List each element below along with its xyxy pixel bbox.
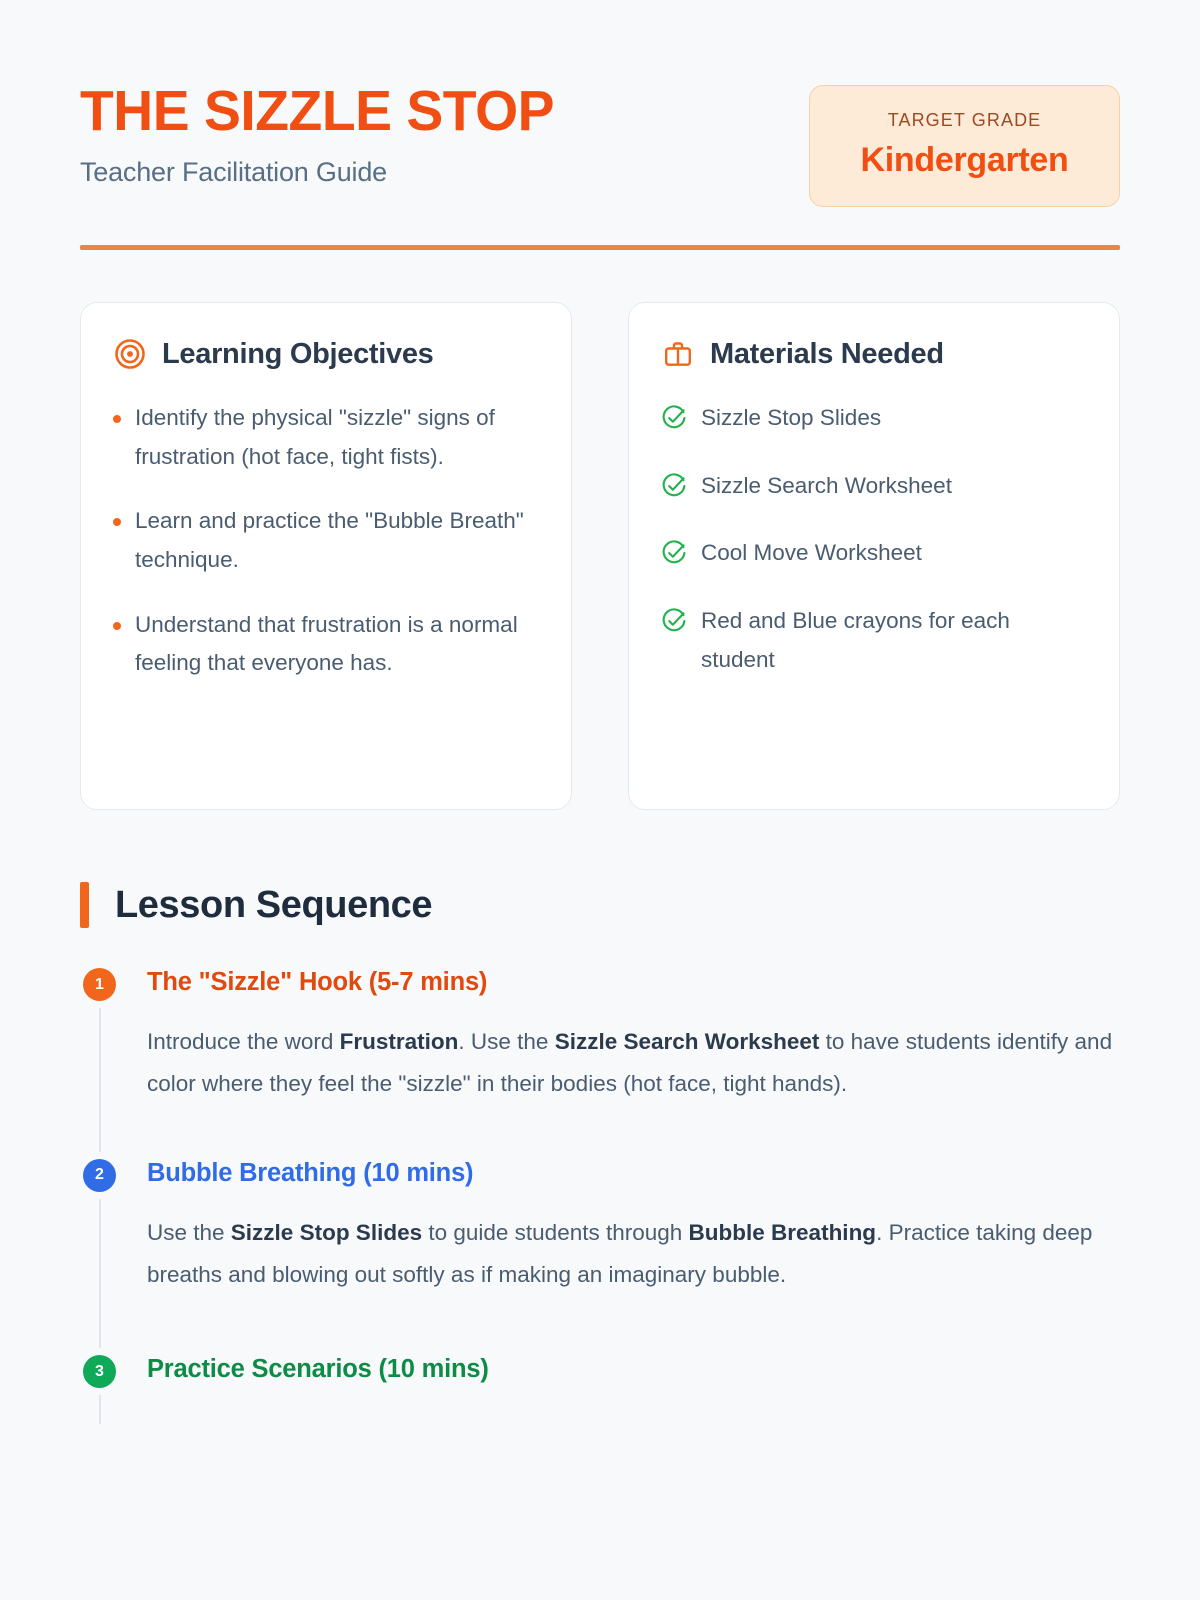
- materials-needed-title: Materials Needed: [710, 338, 944, 371]
- section-accent-bar: [80, 882, 89, 928]
- list-item: Learn and practice the "Bubble Breath" t…: [113, 502, 539, 579]
- materials-needed-list: Sizzle Stop Slides Sizzle Search Workshe…: [661, 399, 1087, 679]
- step-connector-line: [99, 1008, 101, 1152]
- objective-text: Understand that frustration is a normal …: [135, 606, 539, 683]
- material-text: Red and Blue crayons for each student: [701, 602, 1087, 679]
- check-circle-icon: [661, 608, 687, 679]
- page-header: THE SIZZLE STOP Teacher Facilitation Gui…: [80, 78, 1120, 207]
- bullet-icon: [113, 415, 121, 423]
- list-item: Sizzle Search Worksheet: [661, 467, 1087, 512]
- page-title: THE SIZZLE STOP: [80, 82, 554, 142]
- bullet-icon: [113, 622, 121, 630]
- lesson-step-1: 1 The "Sizzle" Hook (5-7 mins) Introduce…: [80, 968, 1120, 1158]
- target-grade-badge: TARGET GRADE Kindergarten: [809, 85, 1120, 207]
- objective-text: Learn and practice the "Bubble Breath" t…: [135, 502, 539, 579]
- materials-needed-card: Materials Needed Sizzle Stop Slides: [628, 302, 1120, 810]
- step-title: Bubble Breathing (10 mins): [147, 1159, 1120, 1188]
- lesson-sequence-title: Lesson Sequence: [115, 884, 432, 927]
- step-body: Introduce the word Frustration. Use the …: [147, 1021, 1120, 1106]
- list-item: Sizzle Stop Slides: [661, 399, 1087, 444]
- material-text: Sizzle Search Worksheet: [701, 467, 1087, 512]
- briefcase-icon: [661, 337, 695, 371]
- info-cards: Learning Objectives Identify the physica…: [80, 302, 1120, 810]
- step-title: Practice Scenarios (10 mins): [147, 1355, 1120, 1384]
- header-divider: [80, 245, 1120, 250]
- target-grade-value: Kindergarten: [830, 141, 1099, 180]
- bullet-icon: [113, 518, 121, 526]
- step-title: The "Sizzle" Hook (5-7 mins): [147, 968, 1120, 997]
- step-number-badge: 1: [83, 968, 116, 1001]
- list-item: Red and Blue crayons for each student: [661, 602, 1087, 679]
- materials-needed-header: Materials Needed: [661, 337, 1087, 371]
- step-connector-line: [99, 1199, 101, 1349]
- step-number-badge: 3: [83, 1355, 116, 1388]
- material-text: Sizzle Stop Slides: [701, 399, 1087, 444]
- step-connector-line: [99, 1395, 101, 1424]
- facilitation-guide-page: THE SIZZLE STOP Teacher Facilitation Gui…: [0, 0, 1200, 1600]
- lesson-sequence-header: Lesson Sequence: [80, 882, 1120, 928]
- page-subtitle: Teacher Facilitation Guide: [80, 157, 569, 188]
- learning-objectives-list: Identify the physical "sizzle" signs of …: [113, 399, 539, 683]
- step-body: Use the Sizzle Stop Slides to guide stud…: [147, 1212, 1120, 1297]
- target-grade-label: TARGET GRADE: [830, 110, 1099, 131]
- learning-objectives-title: Learning Objectives: [162, 338, 434, 371]
- lesson-steps: 1 The "Sizzle" Hook (5-7 mins) Introduce…: [80, 968, 1120, 1384]
- check-circle-icon: [661, 473, 687, 512]
- target-icon: [113, 337, 147, 371]
- learning-objectives-card: Learning Objectives Identify the physica…: [80, 302, 572, 810]
- step-number-badge: 2: [83, 1159, 116, 1192]
- list-item: Cool Move Worksheet: [661, 534, 1087, 579]
- check-circle-icon: [661, 405, 687, 444]
- material-text: Cool Move Worksheet: [701, 534, 1087, 579]
- lesson-step-2: 2 Bubble Breathing (10 mins) Use the Siz…: [80, 1159, 1120, 1355]
- learning-objectives-header: Learning Objectives: [113, 337, 539, 371]
- list-item: Identify the physical "sizzle" signs of …: [113, 399, 539, 476]
- list-item: Understand that frustration is a normal …: [113, 606, 539, 683]
- objective-text: Identify the physical "sizzle" signs of …: [135, 399, 539, 476]
- lesson-step-3: 3 Practice Scenarios (10 mins): [80, 1355, 1120, 1384]
- check-circle-icon: [661, 540, 687, 579]
- title-block: THE SIZZLE STOP Teacher Facilitation Gui…: [80, 78, 569, 188]
